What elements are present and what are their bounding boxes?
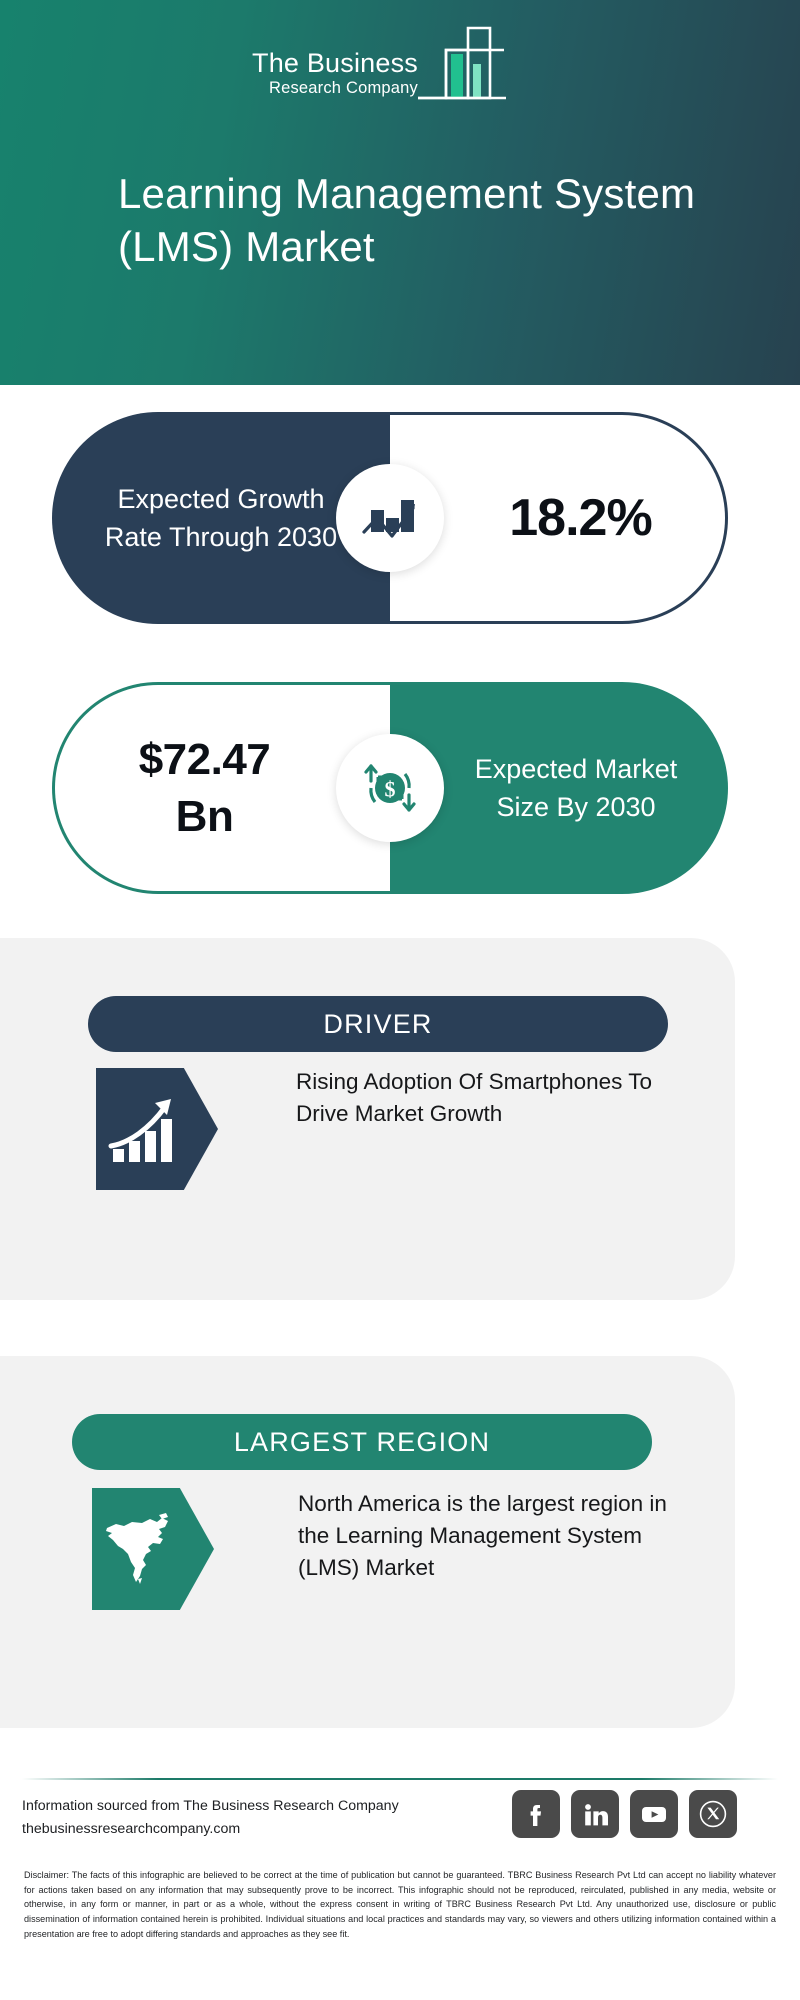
largest-region-pill: LARGEST REGION [72,1414,652,1470]
footer-divider [22,1778,778,1780]
logo-line-1: The Business [218,50,418,77]
stat-card-expected-growth-rate: Expected Growth Rate Through 2030 18.2% [52,412,728,624]
page-title: Learning Management System (LMS) Market [118,168,698,274]
driver-body-text: Rising Adoption Of Smartphones To Drive … [296,1066,696,1130]
stat-label: Expected Market Size By 2030 [439,750,679,827]
svg-text:$: $ [385,777,396,802]
stat-card-expected-market-size: $72.47 Bn Expected Market Size By 2030 $ [52,682,728,894]
disclaimer-text: Disclaimer: The facts of this infographi… [24,1868,776,1942]
stat-label: Expected Growth Rate Through 2030 [96,480,346,557]
stat-value: 18.2% [463,488,651,548]
company-logo: The Business Research Company [218,24,508,106]
header-banner: The Business Research Company Learning M… [0,0,800,385]
stat-value: $72.47 Bn [108,731,338,845]
dollar-circle-arrows-icon: $ [336,734,444,842]
social-links [512,1790,774,1838]
largest-region-body-text: North America is the largest region in t… [298,1488,698,1584]
youtube-icon[interactable] [630,1790,678,1838]
driver-pill-label: DRIVER [323,1009,432,1040]
linkedin-icon[interactable] [571,1790,619,1838]
logo-line-2: Research Company [218,80,418,97]
bar-chart-logo-icon [416,24,508,109]
facebook-icon[interactable] [512,1790,560,1838]
logo-wordmark: The Business Research Company [218,50,418,97]
source-attribution: Information sourced from The Business Re… [22,1795,462,1840]
bar-chart-growth-arrow-icon [336,464,444,572]
source-line-1: Information sourced from The Business Re… [22,1795,462,1818]
source-line-2[interactable]: thebusinessresearchcompany.com [22,1818,462,1841]
largest-region-pill-label: LARGEST REGION [234,1427,490,1458]
x-twitter-icon[interactable] [689,1790,737,1838]
driver-pill: DRIVER [88,996,668,1052]
